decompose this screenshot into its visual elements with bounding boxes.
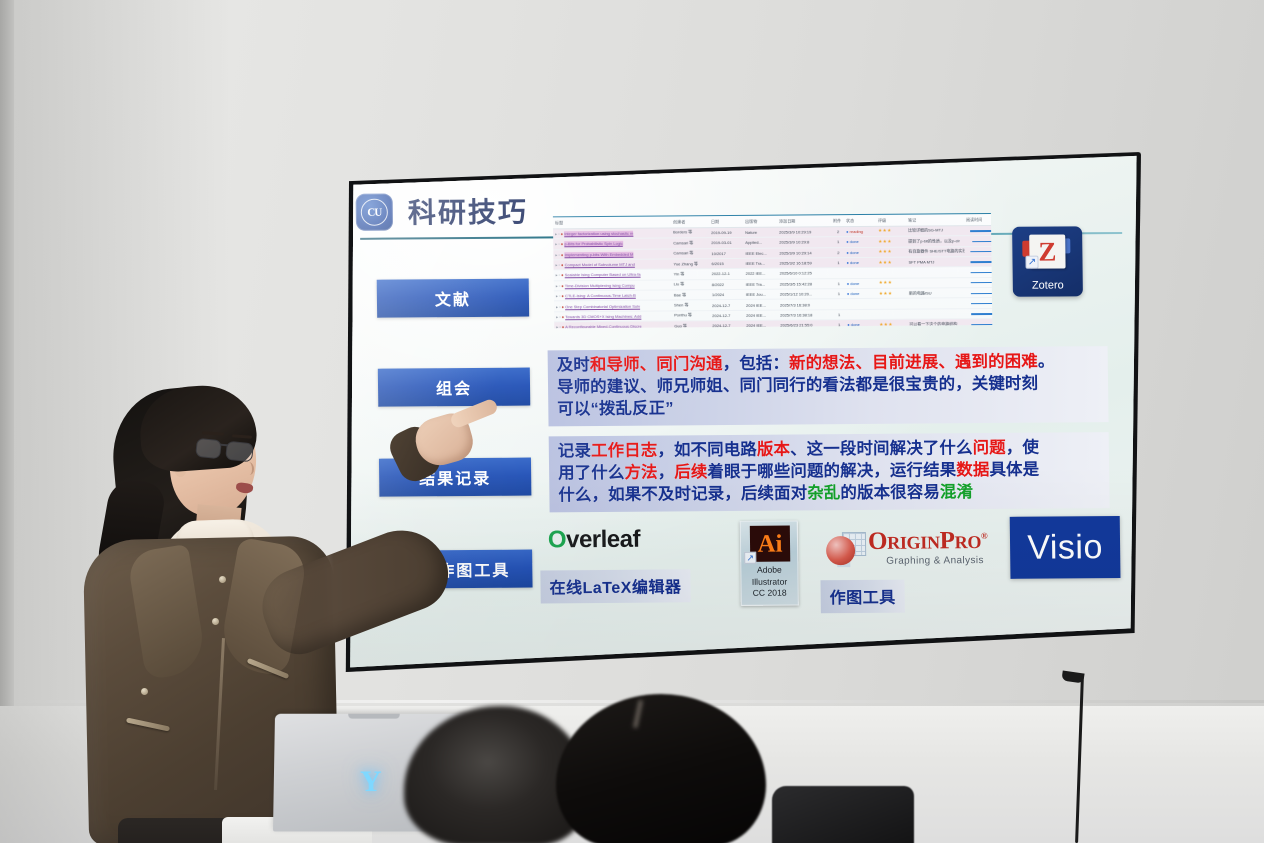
cell-status: ● done	[844, 237, 876, 248]
cell-status	[845, 268, 877, 279]
cell-note: 提到了p-bit的性质，以及p-cir	[906, 236, 964, 247]
cell-publication: 2024 IEE...	[744, 310, 778, 321]
cell-note: 新的电路ISU	[907, 288, 965, 299]
cell-date: 2024-12-7	[710, 321, 744, 329]
cell-creator: Borders 等	[671, 227, 709, 238]
cell-publication: 2022 IEE...	[744, 268, 778, 279]
zotero-library-table[interactable]: 标题 创建者 日期 出版物 添加日期 附件 状态 评级 笔记 阅读时间	[553, 213, 992, 328]
visio-logo: Visio	[1010, 516, 1121, 579]
cell-note: 有自旋器件 SHE/STT电路的实现	[906, 246, 964, 257]
cell-status: ● done	[845, 288, 877, 299]
cell-creator: Bae 等	[672, 290, 710, 301]
presenter-glasses	[196, 438, 258, 458]
zotero-icon-letter: Z	[1038, 238, 1056, 265]
cell-attachments: 2	[831, 247, 844, 257]
text-segment: 、这一段时间解决了什么	[790, 439, 973, 458]
cell-creator: Shen 等	[672, 300, 710, 311]
text-segment: 导师的建议、师兄师姐、同门同行的看法都是很宝贵的，关键时刻	[557, 374, 1038, 396]
cell-attachments	[832, 268, 845, 278]
origin-o: O	[868, 528, 887, 555]
cell-publication: IEEE Tra...	[744, 279, 778, 290]
cell-creator: Yue Zhang 等	[671, 259, 709, 270]
cell-note	[907, 298, 965, 309]
illustrator-line2: Illustrator	[741, 576, 797, 588]
column-header-date-added[interactable]: 添加日期	[777, 215, 831, 227]
cell-rating: ★★★	[877, 288, 907, 299]
cell-date: 2022-12-1	[710, 269, 744, 280]
text-segment: 可以“拨乱反正”	[557, 399, 674, 418]
cell-status: ● done	[844, 247, 876, 258]
text-segment: 问题	[973, 439, 1006, 457]
origin-ro: RO	[955, 532, 982, 552]
adobe-illustrator-icon[interactable]: Ai ↗ Adobe Illustrator CC 2018	[740, 520, 799, 605]
text-segment: 版本	[757, 441, 790, 459]
column-header-note[interactable]: 笔记	[906, 214, 964, 226]
glasses-lens-right	[225, 441, 254, 463]
cell-creator: Guo 等	[672, 321, 710, 329]
office-chair-back	[772, 786, 914, 843]
cell-date-added: 2025/6/23 21:55:0	[778, 320, 832, 328]
cell-creator: Yin 等	[672, 269, 710, 280]
cell-publication: 2024 IEE...	[744, 300, 778, 311]
text-segment: 和导师、同门沟通	[590, 355, 723, 374]
jacket-snap-3	[141, 688, 148, 695]
originpro-glyph-icon	[826, 532, 866, 570]
zotero-icon-label: Zotero	[1013, 279, 1083, 292]
cell-status: ● done	[844, 257, 876, 268]
text-segment: 新的想法、目前进展、遇到的困难	[789, 353, 1038, 373]
cell-publication: 2024 IEE...	[744, 320, 778, 328]
cell-attachments: 1	[832, 320, 845, 329]
text-segment: ，	[658, 463, 675, 481]
text-segment: 具体是	[989, 460, 1039, 478]
originpro-wordmark: ORIGINPRO®	[868, 527, 988, 555]
cell-reading-time: 2h 14m	[965, 298, 992, 309]
originpro-tagline: Graphing & Analysis	[886, 555, 984, 567]
cell-reading-time: 2h 10m	[965, 318, 992, 328]
cell-date: 8/2022	[710, 279, 744, 290]
text-segment: 什么，如果不及时记录，后续面对	[558, 484, 807, 504]
cell-attachments: 1	[832, 289, 845, 299]
slide-title: 科研技巧	[408, 191, 529, 232]
shortcut-arrow-icon: ↗	[744, 552, 756, 564]
origin-rigin: RIGIN	[887, 532, 940, 552]
cell-status	[845, 309, 877, 320]
laptop-brand-logo: Y	[360, 765, 382, 799]
cell-date: 10/2017	[709, 248, 743, 259]
cell-rating	[877, 299, 907, 310]
cell-attachments: 1	[832, 309, 845, 319]
text-segment: 记录	[558, 442, 591, 460]
cell-note	[907, 277, 965, 288]
cell-reading-time: 4h 40m	[964, 225, 992, 236]
text-line: 可以“拨乱反正”	[557, 395, 1100, 421]
nav-button-literature[interactable]: 文献	[377, 279, 529, 318]
text-segment: 方法	[624, 463, 657, 481]
cell-date: 2024-12-7	[710, 310, 744, 321]
laptop-hinge-notch	[348, 714, 400, 719]
text-segment: 杂乱	[807, 484, 840, 502]
cell-date: 2019-09-19	[709, 227, 743, 238]
cell-rating: ★★★	[877, 278, 907, 289]
cell-date: 1/2024	[710, 289, 744, 300]
cell-date-added: 2025/3/9 10:29:8	[777, 237, 831, 248]
cell-attachments: 2	[831, 226, 844, 236]
originpro-circle	[826, 536, 855, 565]
text-segment: ，包括：	[723, 355, 790, 374]
zotero-app-icon[interactable]: Z ↗ Zotero	[1012, 226, 1083, 297]
text-line: 导师的建议、师兄师姐、同门同行的看法都是很宝贵的，关键时刻	[557, 373, 1100, 399]
slide-header: CU 科研技巧	[356, 188, 1126, 194]
overleaf-leaf-icon: O	[548, 526, 567, 553]
cell-publication: IEEE Tra...	[743, 258, 777, 269]
text-segment: 数据	[956, 461, 989, 479]
cell-date-added: 2025/3/9 10:29:19	[777, 227, 831, 238]
cell-date-added: 2025/3/5 15:42:28	[778, 278, 832, 289]
cell-reading-time: 2h 13m	[965, 308, 992, 319]
cell-status: ● done	[845, 320, 877, 329]
cell-reading-time: 2h 19m	[965, 277, 993, 288]
cell-rating: ★★★	[876, 226, 906, 237]
column-header-publication[interactable]: 出版物	[743, 216, 777, 228]
cell-note	[907, 267, 965, 278]
cell-date: 6/2015	[709, 258, 743, 269]
cell-rating: ★★★	[877, 319, 907, 328]
text-block-work-log: 记录工作日志，如不同电路版本、这一段时间解决了什么问题，使用了什么方法，后续着眼…	[549, 432, 1110, 513]
cell-date-added: 2025/3/9 10:29:14	[777, 247, 831, 258]
origin-registered: ®	[981, 531, 988, 541]
cell-note	[907, 308, 965, 319]
column-header-creator[interactable]: 创建者	[671, 216, 709, 228]
overleaf-wordmark: verleaf	[566, 526, 640, 554]
caption-latex-editor: 在线LaTeX编辑器	[540, 569, 690, 603]
cell-date-added: 2025/7/3 16:38:18	[778, 309, 832, 320]
text-segment: 着眼于哪些问题的解决，运行结果	[707, 461, 956, 481]
cell-rating: ★★★	[876, 247, 906, 258]
cell-status: ● reading	[844, 226, 876, 237]
illustrator-line1: Adobe	[741, 564, 797, 576]
text-segment: 的版本很容易	[840, 483, 940, 502]
cell-publication: IEEE Jou...	[744, 289, 778, 300]
text-segment: 工作日志	[591, 442, 658, 461]
text-segment: ，如不同电路	[657, 441, 757, 460]
cell-reading-time: 2h 18m	[965, 287, 992, 298]
overleaf-logo: Overleaf	[548, 526, 640, 555]
cell-date-added: 2025/7/3 16:38:0	[778, 299, 832, 310]
illustrator-line3: CC 2018	[742, 588, 798, 600]
cell-attachments	[832, 299, 845, 309]
cell-date: 2019-03-01	[709, 238, 743, 249]
cell-creator: Ponthu 等	[672, 310, 710, 321]
column-header-rating[interactable]: 评级	[876, 215, 906, 227]
emblem-ring: CU	[361, 199, 388, 226]
nav-button-label: 文献	[435, 286, 471, 310]
cell-rating: ★★★	[876, 236, 906, 247]
cell-publication: IEEE Elec...	[743, 248, 777, 259]
cell-rating	[877, 267, 907, 278]
text-segment: ，使	[1006, 439, 1039, 457]
origin-p: P	[940, 527, 955, 554]
text-block-group-meeting: 及时和导师、同门沟通，包括：新的想法、目前进展、遇到的困难。导师的建议、师兄师姐…	[548, 346, 1109, 427]
cell-date-added: 2025/3/2 16:18:59	[777, 258, 831, 269]
column-header-reading-time[interactable]: 阅读时间	[964, 214, 992, 226]
cell-publication: Applied...	[743, 237, 777, 248]
cell-attachments: 1	[831, 237, 844, 247]
glasses-lens-left	[195, 438, 222, 460]
cell-reading-time: 3h 8m	[964, 235, 992, 246]
shortcut-arrow-icon: ↗	[1025, 256, 1038, 269]
presentation-room-scene: CU 科研技巧 文献 组会 结果记录 写作作图工具 标题	[0, 0, 1264, 843]
illustrator-label: Adobe Illustrator CC 2018	[741, 564, 797, 599]
column-header-attachments[interactable]: 附件	[831, 215, 844, 226]
column-header-title[interactable]: 标题	[553, 216, 671, 228]
text-line: 什么，如果不及时记录，后续面对杂乱的版本很容易混淆	[558, 481, 1101, 507]
cell-publication: Nature	[743, 227, 777, 238]
cell-status: ● done	[845, 278, 877, 289]
cell-rating	[877, 309, 907, 320]
text-segment: 后续	[674, 463, 707, 481]
originpro-logo: ORIGINPRO® Graphing & Analysis	[826, 527, 1007, 580]
table-body: ▸ ▫● Integer factorization using stochas…	[553, 225, 992, 328]
cell-attachments: 1	[831, 258, 844, 268]
text-segment: 。	[1038, 353, 1055, 371]
illustrator-letters: Ai	[757, 531, 782, 556]
cell-creator: Liu 等	[672, 279, 710, 290]
jacket-snap-1	[219, 576, 226, 583]
presenter-nose	[244, 462, 254, 475]
cell-creator: Camsari 等	[671, 248, 709, 259]
cell-note: 比较详细的SG-MTJ	[906, 225, 964, 236]
text-segment: 混淆	[940, 483, 973, 501]
cell-attachments: 1	[832, 278, 845, 288]
cell-reading-time: 2h 45m	[964, 246, 992, 257]
university-emblem-icon: CU	[356, 194, 393, 231]
column-header-date[interactable]: 日期	[709, 216, 743, 228]
cell-rating: ★★★	[876, 257, 906, 268]
visio-wordmark: Visio	[1027, 528, 1103, 568]
cell-status	[845, 299, 877, 310]
cell-creator: Camsari 等	[671, 238, 709, 249]
jacket-snap-2	[212, 618, 219, 625]
cell-note: SFT PMA MTJ	[906, 257, 964, 268]
cell-reading-time: 2h 34m	[965, 267, 993, 278]
cell-date: 2024-12-7	[710, 300, 744, 311]
text-segment: 用了什么	[558, 464, 625, 483]
tools-row: Overleaf 在线LaTeX编辑器 Ai ↗ Adobe Illustrat…	[540, 522, 1121, 636]
caption-drawing-tools: 作图工具	[820, 580, 904, 614]
text-line: 用了什么方法，后续着眼于哪些问题的解决，运行结果数据具体是	[558, 459, 1101, 485]
cell-date-added: 2025/6/10 0:12:25	[778, 268, 832, 279]
cell-note: 可以看一下这个的电路结构	[907, 319, 965, 328]
cell-date-added: 2025/1/12 10:20...	[778, 289, 832, 300]
cell-title: ▸ ▫● A Reconfigurable Mixed-Continuous-D…	[554, 321, 672, 328]
text-segment: 及时	[557, 356, 590, 374]
column-header-status[interactable]: 状态	[844, 215, 876, 227]
cell-reading-time: 2h 43m	[964, 256, 992, 267]
